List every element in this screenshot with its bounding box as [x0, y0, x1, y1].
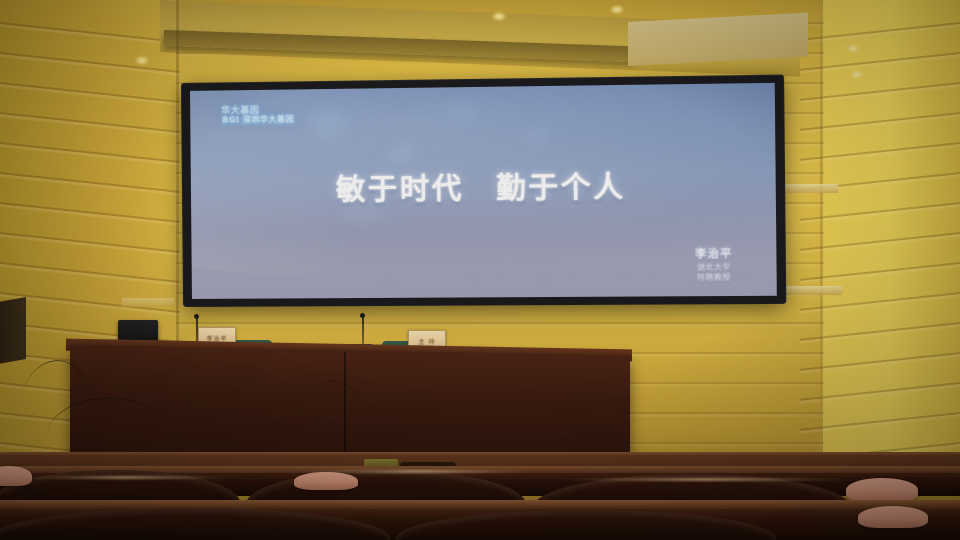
presenter-org: 湖北大学 — [695, 262, 733, 273]
wall-ledge — [122, 298, 174, 307]
presenter-name: 李治平 — [695, 247, 733, 262]
downlight-icon — [135, 56, 149, 65]
slide-surface: 华大基因 BGI 深圳华大基因 敏于时代 勤于个人 李治平 湖北大学 特聘教授 — [190, 83, 777, 299]
seat-cushion — [846, 478, 918, 502]
downlight-icon — [492, 12, 506, 21]
presenter-role: 特聘教授 — [695, 272, 733, 283]
downlight-icon — [850, 70, 864, 79]
downlight-icon — [846, 44, 860, 53]
seat-highlight — [20, 476, 230, 479]
downlight-icon — [610, 5, 624, 14]
seat-rail — [0, 500, 960, 509]
microphone-capsule-icon — [360, 313, 365, 318]
seat-cushion — [858, 506, 928, 528]
wall-seam — [820, 0, 823, 470]
auditorium-photo: 华大基因 BGI 深圳华大基因 敏于时代 勤于个人 李治平 湖北大学 特聘教授 … — [0, 0, 960, 540]
slide-title: 敏于时代 勤于个人 — [191, 162, 776, 210]
screen-frame: 华大基因 BGI 深圳华大基因 敏于时代 勤于个人 李治平 湖北大学 特聘教授 — [182, 76, 785, 306]
slide-bokeh — [524, 127, 547, 146]
seat-cushion — [294, 472, 358, 490]
seat-highlight — [300, 470, 530, 473]
slide-logo: 华大基因 BGI 深圳华大基因 — [221, 107, 295, 126]
projection-screen[interactable]: 华大基因 BGI 深圳华大基因 敏于时代 勤于个人 李治平 湖北大学 特聘教授 — [182, 76, 785, 306]
slide-logo-line2: BGI 深圳华大基因 — [221, 116, 295, 125]
wall-ledge — [776, 184, 838, 193]
slide-credit: 李治平 湖北大学 特聘教授 — [695, 247, 733, 283]
seat-highlight — [560, 478, 850, 481]
microphone-capsule-icon — [194, 314, 199, 319]
stage-speaker — [0, 297, 26, 365]
